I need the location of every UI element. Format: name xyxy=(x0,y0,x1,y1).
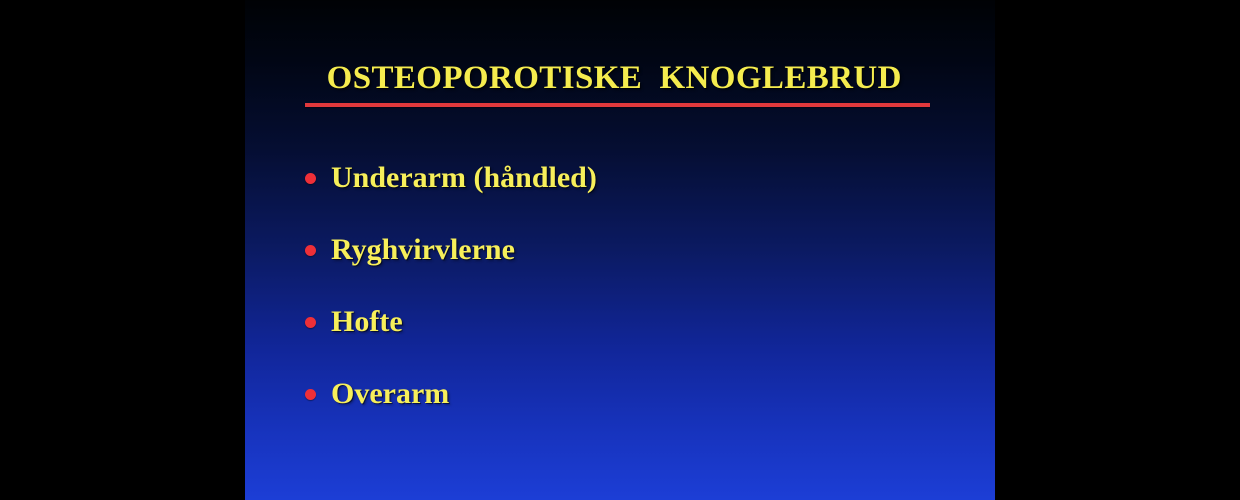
bullet-item-label: Underarm (håndled) xyxy=(331,161,597,195)
bullet-item-label: Ryghvirvlerne xyxy=(331,233,515,267)
slide-title-block: OSTEOPOROTISKE KNOGLEBRUD xyxy=(305,58,935,107)
bullet-list: Underarm (håndled) Ryghvirvlerne Hofte O… xyxy=(297,142,957,430)
list-item: Hofte xyxy=(297,286,957,358)
bullet-dot-icon xyxy=(305,389,316,400)
list-item: Ryghvirvlerne xyxy=(297,214,957,286)
bullet-dot-icon xyxy=(305,173,316,184)
letterbox-bar-left xyxy=(0,0,245,500)
bullet-dot-icon xyxy=(305,317,316,328)
bullet-item-label: Overarm xyxy=(331,377,449,411)
slide-canvas: OSTEOPOROTISKE KNOGLEBRUD Underarm (hånd… xyxy=(245,0,995,500)
presentation-screen: OSTEOPOROTISKE KNOGLEBRUD Underarm (hånd… xyxy=(0,0,1240,500)
slide-title: OSTEOPOROTISKE KNOGLEBRUD xyxy=(305,58,935,98)
bullet-item-label: Hofte xyxy=(331,305,403,339)
title-underline-rule xyxy=(305,103,930,107)
letterbox-bar-right xyxy=(995,0,1240,500)
bullet-dot-icon xyxy=(305,245,316,256)
list-item: Underarm (håndled) xyxy=(297,142,957,214)
list-item: Overarm xyxy=(297,358,957,430)
